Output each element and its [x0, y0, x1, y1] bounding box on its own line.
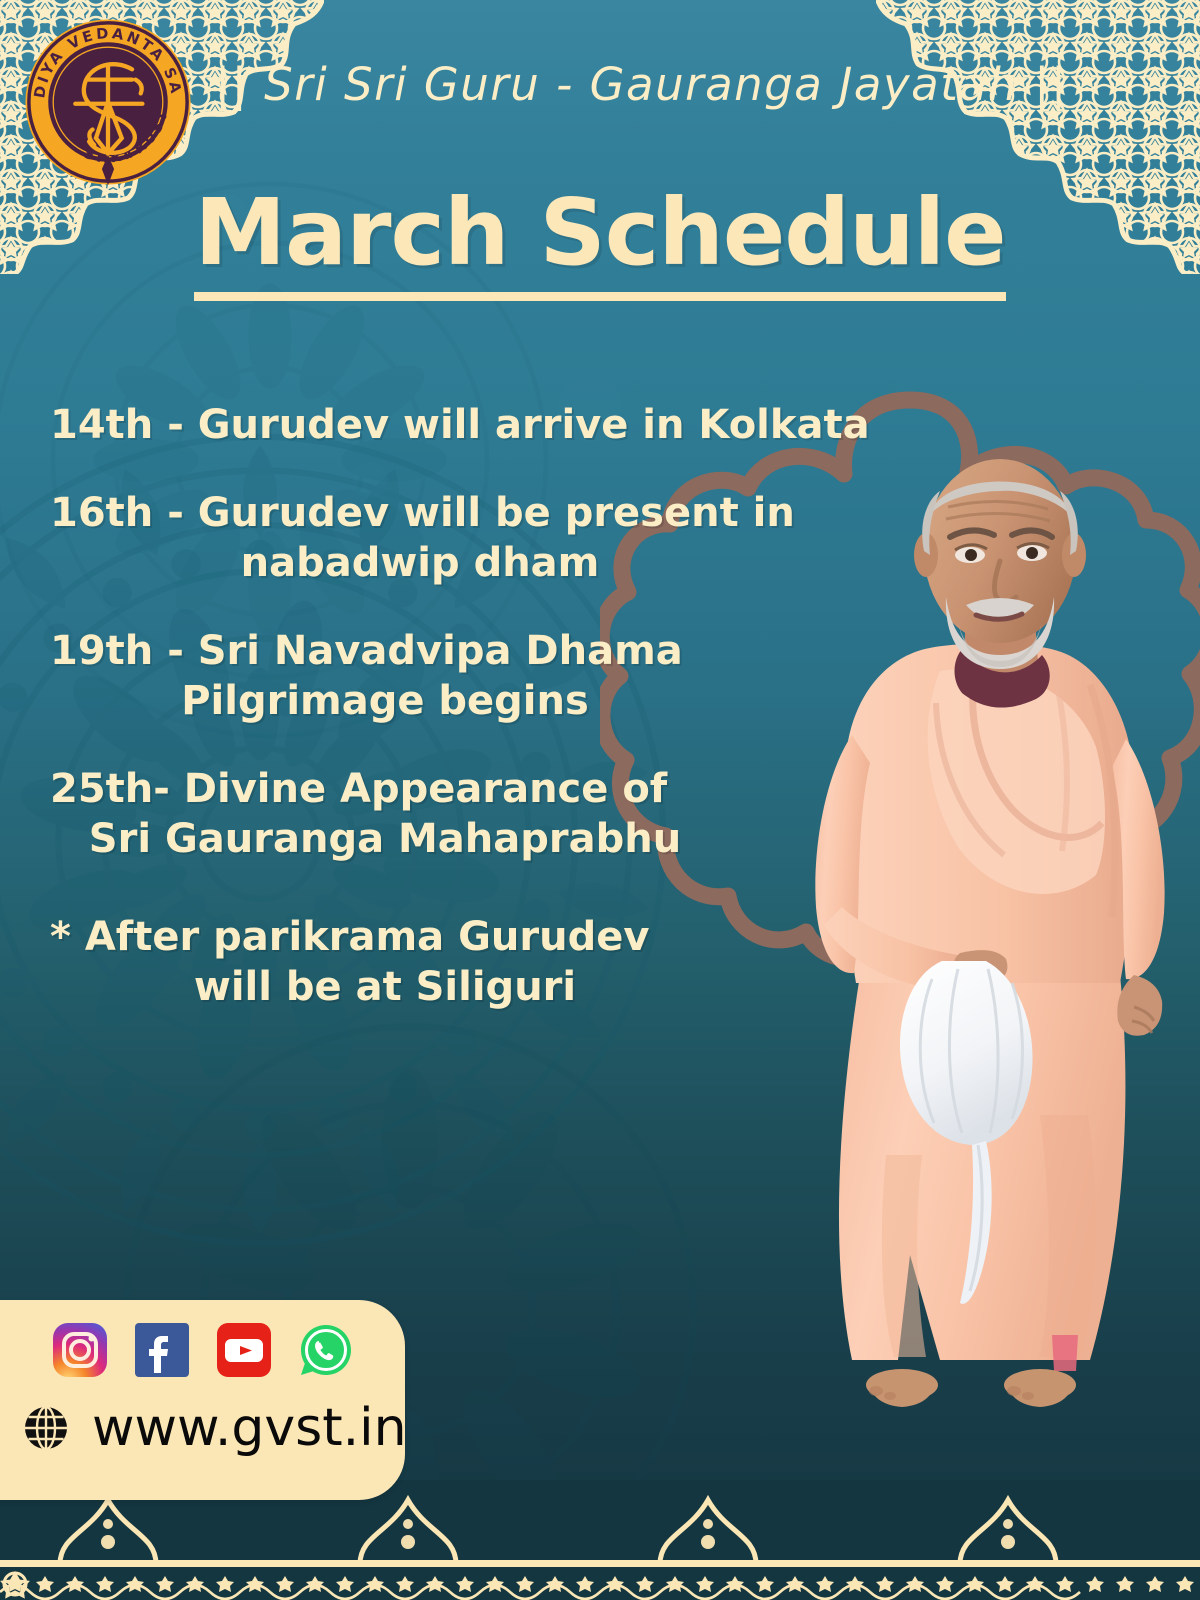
website-url[interactable]: www.gvst.in [92, 1398, 407, 1458]
schedule-line: nabadwip dham [30, 538, 930, 588]
trust-logo-seal: GOUDIYA VEDANTA SAMITI SHRI TRUST [22, 16, 194, 188]
globe-icon [22, 1404, 70, 1452]
schedule-line: Pilgrimage begins [30, 676, 930, 726]
youtube-icon[interactable] [216, 1322, 272, 1378]
mandala-lower [60, 960, 760, 1600]
invocation-header: || Sri Sri Guru - Gauranga Jayatah || [215, 58, 1015, 111]
schedule-item: 25th- Divine Appearance of Sri Gauranga … [30, 764, 930, 864]
schedule-item: 19th - Sri Navadvipa Dhama Pilgrimage be… [30, 626, 930, 726]
schedule-note-line: * After parikrama Gurudev [30, 912, 930, 962]
schedule-line: Sri Gauranga Mahaprabhu [30, 814, 930, 864]
schedule-line: 19th - Sri Navadvipa Dhama [30, 626, 930, 676]
schedule-item: 16th - Gurudev will be present in nabadw… [30, 488, 930, 588]
schedule-note: * After parikrama Gurudev will be at Sil… [30, 912, 930, 1012]
footer-contact-badge: www.gvst.in [0, 1300, 405, 1500]
website-row[interactable]: www.gvst.in [22, 1398, 407, 1458]
instagram-icon[interactable] [52, 1322, 108, 1378]
social-links-row [52, 1322, 354, 1378]
facebook-icon[interactable] [134, 1322, 190, 1378]
schedule-note-line: will be at Siliguri [30, 962, 930, 1012]
schedule-list: 14th - Gurudev will arrive in Kolkata 16… [30, 400, 930, 1050]
schedule-line: 25th- Divine Appearance of [30, 764, 930, 814]
schedule-item: 14th - Gurudev will arrive in Kolkata [30, 400, 930, 450]
page-title-wrap: March Schedule [0, 185, 1200, 301]
schedule-line: 16th - Gurudev will be present in [30, 488, 930, 538]
whatsapp-icon[interactable] [298, 1322, 354, 1378]
page-title: March Schedule [194, 185, 1005, 301]
poster-canvas: GOUDIYA VEDANTA SAMITI SHRI TRUST || Sri… [0, 0, 1200, 1600]
schedule-line: 14th - Gurudev will arrive in Kolkata [30, 400, 930, 450]
